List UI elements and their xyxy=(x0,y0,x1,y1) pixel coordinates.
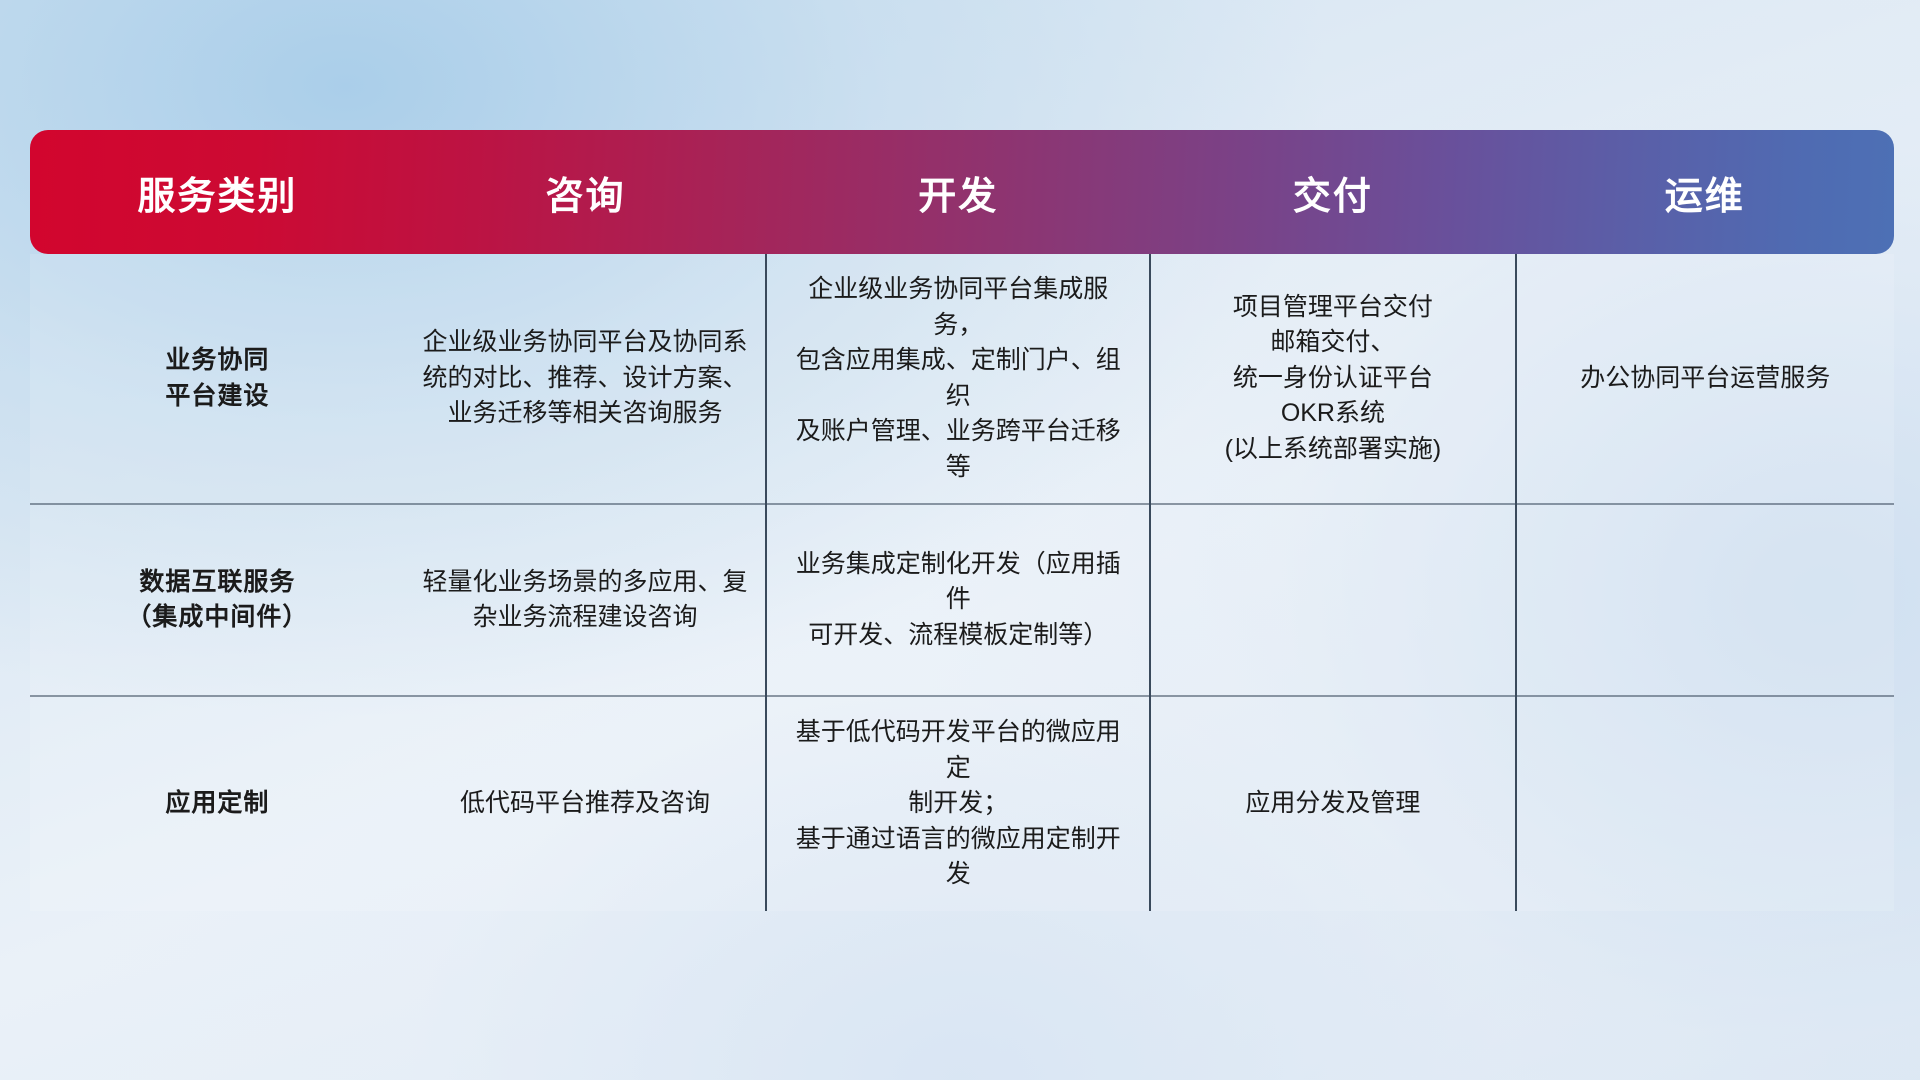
table-header: 服务类别 咨询 开发 交付 运维 xyxy=(30,130,1894,254)
cell-text: 轻量化业务场景的多应用、复 杂业务流程建设咨询 xyxy=(421,565,750,636)
cell-text: 低代码平台推荐及咨询 xyxy=(421,786,750,822)
header-delivery: 交付 xyxy=(1150,130,1515,254)
header-consulting-label: 咨询 xyxy=(545,176,625,218)
cell-delivery-row3: 应用分发及管理 xyxy=(1150,696,1515,911)
header-service-category: 服务类别 xyxy=(30,130,405,254)
header-row: 服务类别 咨询 开发 交付 运维 xyxy=(30,130,1894,254)
table-row: 业务协同 平台建设 企业级业务协同平台及协同系 统的对比、推荐、设计方案、 业务… xyxy=(30,254,1894,504)
cell-text: 数据互联服务 （集成中间件） xyxy=(46,565,389,636)
header-operations-label: 运维 xyxy=(1665,176,1745,218)
cell-text: 应用定制 xyxy=(46,786,389,822)
cell-consulting-row2: 轻量化业务场景的多应用、复 杂业务流程建设咨询 xyxy=(405,504,767,696)
cell-text: 企业级业务协同平台及协同系 统的对比、推荐、设计方案、 业务迁移等相关咨询服务 xyxy=(421,325,750,432)
header-delivery-label: 交付 xyxy=(1293,176,1373,218)
cell-delivery-row2 xyxy=(1150,504,1515,696)
slide-canvas: 服务类别 咨询 开发 交付 运维 xyxy=(0,0,1920,1080)
cell-text: 业务协同 平台建设 xyxy=(46,343,389,414)
cell-text: 业务集成定制化开发（应用插件 可开发、流程模板定制等） xyxy=(783,547,1133,654)
cell-consulting-row3: 低代码平台推荐及咨询 xyxy=(405,696,767,911)
cell-text: 基于低代码开发平台的微应用定 制开发； 基于通过语言的微应用定制开发 xyxy=(783,715,1133,893)
cell-development-row2: 业务集成定制化开发（应用插件 可开发、流程模板定制等） xyxy=(766,504,1150,696)
header-development: 开发 xyxy=(766,130,1150,254)
cell-text: 项目管理平台交付 邮箱交付、 统一身份认证平台 OKR系统 (以上系统部署实施) xyxy=(1167,290,1498,468)
header-service-category-label: 服务类别 xyxy=(137,176,297,218)
cell-development-row3: 基于低代码开发平台的微应用定 制开发； 基于通过语言的微应用定制开发 xyxy=(766,696,1150,911)
cell-text: 应用分发及管理 xyxy=(1167,786,1498,822)
cell-operations-row2 xyxy=(1516,504,1894,696)
cell-text: 办公协同平台运营服务 xyxy=(1533,361,1878,397)
row-category-business-collaboration: 业务协同 平台建设 xyxy=(30,254,405,504)
table-row: 数据互联服务 （集成中间件） 轻量化业务场景的多应用、复 杂业务流程建设咨询 业… xyxy=(30,504,1894,696)
cell-operations-row3 xyxy=(1516,696,1894,911)
cell-consulting-row1: 企业级业务协同平台及协同系 统的对比、推荐、设计方案、 业务迁移等相关咨询服务 xyxy=(405,254,767,504)
cell-operations-row1: 办公协同平台运营服务 xyxy=(1516,254,1894,504)
header-development-label: 开发 xyxy=(918,176,998,218)
cell-development-row1: 企业级业务协同平台集成服务， 包含应用集成、定制门户、组织 及账户管理、业务跨平… xyxy=(766,254,1150,504)
cell-delivery-row1: 项目管理平台交付 邮箱交付、 统一身份认证平台 OKR系统 (以上系统部署实施) xyxy=(1150,254,1515,504)
service-matrix-table-wrapper: 服务类别 咨询 开发 交付 运维 xyxy=(30,130,1894,911)
row-category-app-customization: 应用定制 xyxy=(30,696,405,911)
header-consulting: 咨询 xyxy=(405,130,767,254)
service-matrix-table: 服务类别 咨询 开发 交付 运维 xyxy=(30,130,1894,911)
table-body: 业务协同 平台建设 企业级业务协同平台及协同系 统的对比、推荐、设计方案、 业务… xyxy=(30,254,1894,911)
cell-text: 企业级业务协同平台集成服务， 包含应用集成、定制门户、组织 及账户管理、业务跨平… xyxy=(783,272,1133,485)
table-row: 应用定制 低代码平台推荐及咨询 基于低代码开发平台的微应用定 制开发； 基于通过… xyxy=(30,696,1894,911)
header-operations: 运维 xyxy=(1516,130,1894,254)
row-category-data-integration: 数据互联服务 （集成中间件） xyxy=(30,504,405,696)
